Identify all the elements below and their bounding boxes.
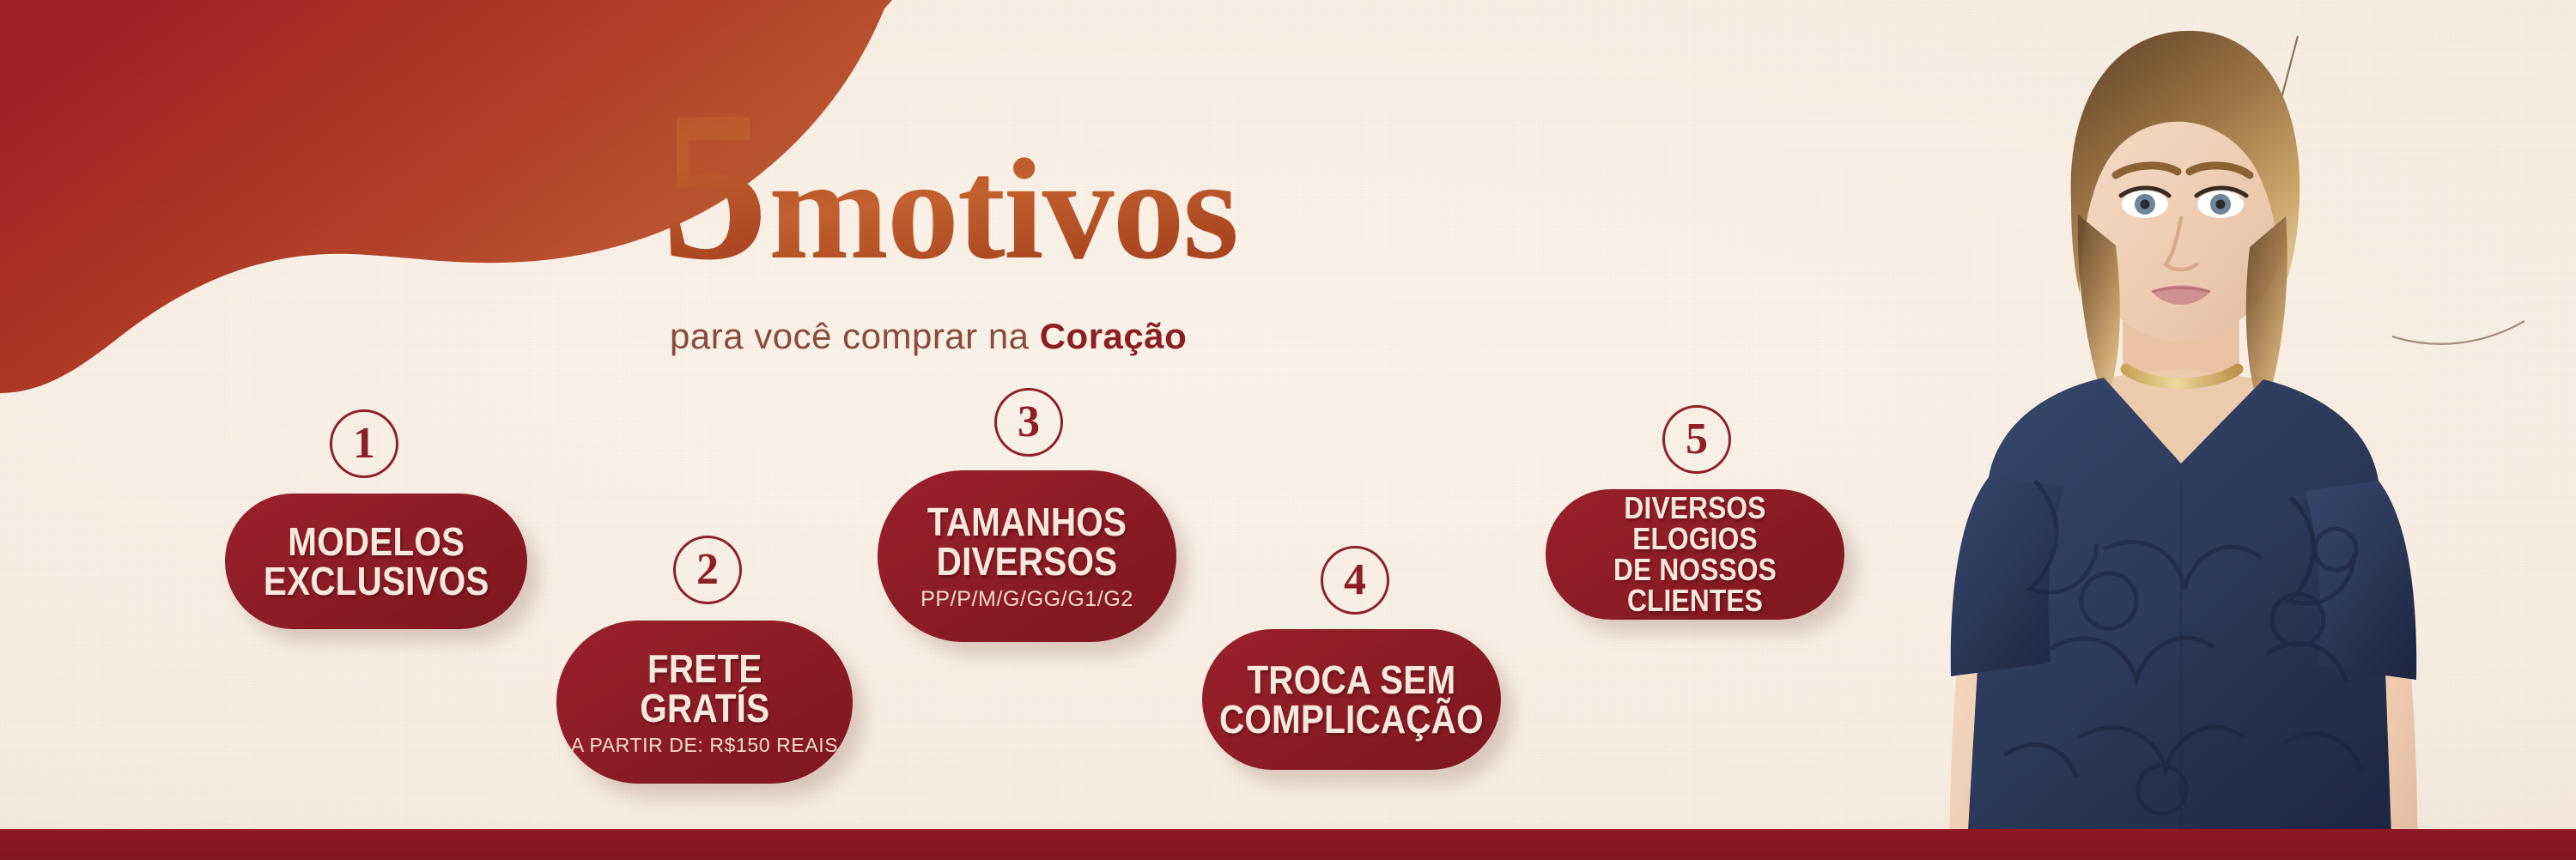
badge-number: 2 [696, 548, 719, 592]
subtitle-prefix: para você comprar na [670, 316, 1040, 356]
benefit-pill-2[interactable]: FRETE GRATÍS A PARTIR DE: R$150 REAIS [556, 621, 853, 784]
headline: 5 motivos [661, 79, 1237, 294]
benefit-title: DIVERSOS ELOGIOS DE NOSSOS CLIENTES [1583, 493, 1807, 616]
badge-4: 4 [1321, 546, 1389, 615]
bottom-accent-bar [0, 829, 2576, 860]
badge-3: 3 [994, 388, 1063, 457]
badge-number: 3 [1018, 400, 1040, 445]
badge-2: 2 [673, 536, 742, 604]
badge-1: 1 [330, 409, 398, 478]
benefit-pill-5[interactable]: DIVERSOS ELOGIOS DE NOSSOS CLIENTES [1546, 489, 1844, 620]
benefit-pill-4[interactable]: TROCA SEM COMPLICAÇÃO [1202, 629, 1501, 770]
benefit-subtitle: A PARTIR DE: R$150 REAIS [571, 736, 838, 755]
headline-word: motivos [769, 137, 1237, 282]
promo-banner: 5 motivos para você comprar na Coração 1… [0, 0, 2576, 860]
badge-number: 1 [353, 421, 375, 466]
brand-name: Coração [1040, 316, 1188, 356]
benefit-title: TROCA SEM COMPLICAÇÃO [1219, 660, 1484, 739]
badge-number: 4 [1344, 558, 1366, 603]
headline-number: 5 [661, 79, 763, 294]
badge-number: 5 [1686, 417, 1708, 462]
subtitle: para você comprar na Coração [670, 316, 1187, 357]
benefit-pill-3[interactable]: TAMANHOS DIVERSOS PP/P/M/G/GG/G1/G2 [878, 470, 1176, 642]
benefit-subtitle: PP/P/M/G/GG/G1/G2 [920, 589, 1133, 610]
benefit-title: TAMANHOS DIVERSOS [927, 502, 1127, 581]
benefit-title: MODELOS EXCLUSIVOS [264, 522, 489, 601]
benefit-pill-1[interactable]: MODELOS EXCLUSIVOS [225, 494, 527, 629]
badge-5: 5 [1662, 405, 1731, 474]
benefit-title: FRETE GRATÍS [640, 649, 769, 728]
